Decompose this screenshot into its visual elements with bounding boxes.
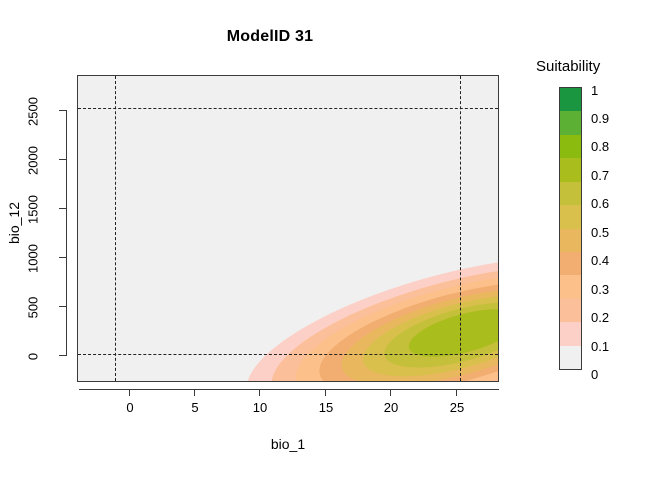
colorbar-label-0.6: 0.6	[591, 197, 609, 210]
colorbar	[559, 87, 582, 370]
y-tick-label-0: 0	[26, 327, 41, 387]
colorbar-label-0.9: 0.9	[591, 112, 609, 125]
x-tick-2	[259, 389, 260, 396]
x-tick-1	[194, 389, 195, 396]
y-tick-0	[59, 355, 66, 356]
colorbar-band-1.0	[560, 88, 581, 111]
x-axis-title: bio_1	[77, 436, 499, 452]
colorbar-band-0.9	[560, 111, 581, 134]
y-tick-1500	[59, 208, 66, 209]
y-tick-1000	[59, 257, 66, 258]
colorbar-band-0.5	[560, 229, 581, 252]
colorbar-label-0: 0	[591, 368, 598, 381]
y-tick-2000	[59, 159, 66, 160]
colorbar-label-1: 1	[591, 84, 598, 97]
plot-panel	[77, 75, 499, 382]
x-tick-label-5: 25	[437, 400, 477, 415]
x-tick-label-3: 15	[306, 400, 346, 415]
y-axis-title: bio_12	[6, 193, 22, 253]
colorbar-band-0.0	[560, 346, 581, 369]
x-tick-3	[325, 389, 326, 396]
y-axis-line	[66, 110, 67, 356]
x-tick-label-0: 0	[110, 400, 150, 415]
colorbar-label-0.4: 0.4	[591, 254, 609, 267]
colorbar-label-0.2: 0.2	[591, 311, 609, 324]
colorbar-label-0.5: 0.5	[591, 226, 609, 239]
x-tick-label-2: 10	[240, 400, 280, 415]
plot-canvas: ModelID 31	[0, 0, 672, 480]
y-tick-2500	[59, 110, 66, 111]
colorbar-label-0.7: 0.7	[591, 169, 609, 182]
x-tick-0	[129, 389, 130, 396]
colorbar-band-0.7	[560, 182, 581, 205]
x-tick-4	[390, 389, 391, 396]
colorbar-band-0.8	[560, 135, 581, 158]
colorbar-band-0.4	[560, 252, 581, 275]
colorbar-label-0.1: 0.1	[591, 340, 609, 353]
x-axis-line	[79, 389, 499, 390]
x-tick-5	[456, 389, 457, 396]
colorbar-band-0.6	[560, 205, 581, 228]
reference-line-horizontal-lower	[78, 354, 498, 355]
legend-title: Suitability	[536, 58, 600, 75]
reference-line-horizontal-upper	[78, 108, 498, 109]
reference-line-vertical-left	[115, 76, 116, 381]
colorbar-band-0.2	[560, 299, 581, 322]
colorbar-label-0.8: 0.8	[591, 140, 609, 153]
reference-line-vertical-right	[460, 76, 461, 381]
page-title: ModelID 31	[0, 28, 540, 46]
x-tick-label-4: 20	[371, 400, 411, 415]
colorbar-band-0.1	[560, 322, 581, 345]
colorbar-band-0.3	[560, 275, 581, 298]
colorbar-band-0.75	[560, 158, 581, 181]
x-tick-label-1: 5	[175, 400, 215, 415]
colorbar-label-0.3: 0.3	[591, 283, 609, 296]
contour-surface	[78, 76, 498, 381]
y-tick-500	[59, 306, 66, 307]
